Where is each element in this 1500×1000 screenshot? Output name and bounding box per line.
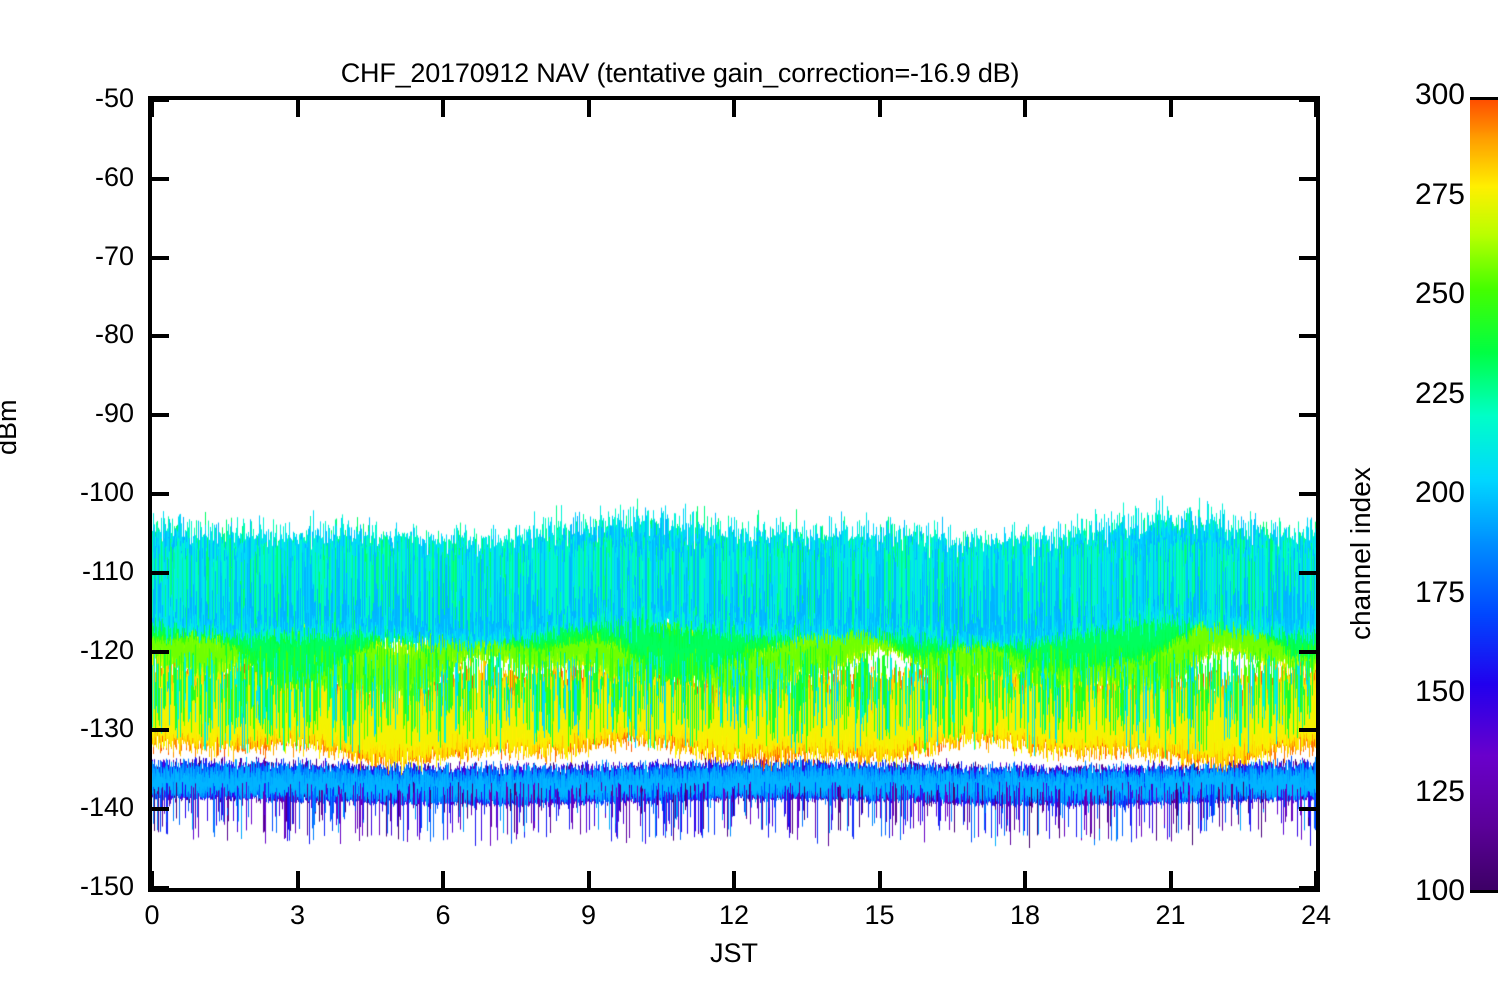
x-tick-label-4: 12 — [694, 900, 774, 931]
y-tick-label-3: -80 — [14, 319, 134, 350]
x-tick-label-0: 0 — [112, 900, 192, 931]
y-tick-label-6: -110 — [14, 556, 134, 587]
x-tick-top-3 — [587, 100, 591, 117]
chart-page: CHF_20170912 NAV (tentative gain_correct… — [0, 0, 1500, 1000]
y-tick-right-5 — [1299, 492, 1316, 496]
colorbar-tick-label-6: 250 — [1355, 277, 1465, 311]
x-tick-top-7 — [1169, 100, 1173, 117]
y-tick-left-4 — [152, 413, 169, 417]
y-tick-right-7 — [1299, 650, 1316, 654]
y-tick-label-7: -120 — [14, 635, 134, 666]
y-tick-label-9: -140 — [14, 792, 134, 823]
y-tick-left-1 — [152, 177, 169, 181]
colorbar-tick-label-2: 150 — [1355, 675, 1465, 709]
y-tick-left-10 — [152, 886, 169, 890]
x-tick-label-2: 6 — [403, 900, 483, 931]
x-tick-label-8: 24 — [1276, 900, 1356, 931]
spectrum-plot-canvas — [152, 100, 1316, 888]
y-tick-right-8 — [1299, 728, 1316, 732]
y-tick-right-2 — [1299, 256, 1316, 260]
y-tick-label-1: -60 — [14, 162, 134, 193]
y-tick-left-5 — [152, 492, 169, 496]
y-tick-right-3 — [1299, 334, 1316, 338]
y-tick-left-0 — [152, 98, 169, 102]
x-tick-bottom-1 — [296, 871, 300, 888]
x-tick-label-5: 15 — [840, 900, 920, 931]
colorbar-gradient — [1470, 97, 1498, 893]
y-tick-right-6 — [1299, 571, 1316, 575]
x-tick-top-6 — [1023, 100, 1027, 117]
chart-title: CHF_20170912 NAV (tentative gain_correct… — [0, 58, 1360, 89]
y-tick-left-8 — [152, 728, 169, 732]
plot-frame — [148, 96, 1320, 892]
x-tick-top-0 — [150, 100, 154, 117]
colorbar-tick-label-8: 300 — [1355, 78, 1465, 112]
y-tick-label-10: -150 — [14, 871, 134, 902]
x-tick-bottom-7 — [1169, 871, 1173, 888]
y-tick-left-3 — [152, 334, 169, 338]
colorbar — [1470, 97, 1498, 893]
x-tick-bottom-4 — [732, 871, 736, 888]
x-tick-label-7: 21 — [1131, 900, 1211, 931]
colorbar-tick-label-5: 225 — [1355, 377, 1465, 411]
x-axis-label: JST — [148, 938, 1320, 969]
y-tick-label-5: -100 — [14, 477, 134, 508]
x-tick-top-2 — [441, 100, 445, 117]
y-tick-label-4: -90 — [14, 398, 134, 429]
x-tick-top-4 — [732, 100, 736, 117]
y-tick-left-2 — [152, 256, 169, 260]
y-tick-left-9 — [152, 807, 169, 811]
colorbar-tick-label-0: 100 — [1355, 874, 1465, 908]
x-tick-bottom-3 — [587, 871, 591, 888]
x-tick-top-8 — [1314, 100, 1318, 117]
y-tick-left-7 — [152, 650, 169, 654]
y-tick-right-1 — [1299, 177, 1316, 181]
x-tick-bottom-5 — [878, 871, 882, 888]
x-tick-label-3: 9 — [549, 900, 629, 931]
x-tick-bottom-0 — [150, 871, 154, 888]
y-tick-label-0: -50 — [14, 83, 134, 114]
y-axis-label: dBm — [0, 399, 23, 455]
x-tick-top-5 — [878, 100, 882, 117]
x-tick-bottom-6 — [1023, 871, 1027, 888]
y-tick-right-4 — [1299, 413, 1316, 417]
x-tick-bottom-8 — [1314, 871, 1318, 888]
y-tick-label-8: -130 — [14, 713, 134, 744]
y-tick-right-9 — [1299, 807, 1316, 811]
x-tick-top-1 — [296, 100, 300, 117]
y-tick-left-6 — [152, 571, 169, 575]
y-tick-label-2: -70 — [14, 241, 134, 272]
colorbar-tick-label-1: 125 — [1355, 775, 1465, 809]
x-tick-label-1: 3 — [258, 900, 338, 931]
x-tick-label-6: 18 — [985, 900, 1065, 931]
colorbar-tick-label-7: 275 — [1355, 178, 1465, 212]
x-tick-bottom-2 — [441, 871, 445, 888]
colorbar-label: channel index — [1345, 467, 1377, 640]
